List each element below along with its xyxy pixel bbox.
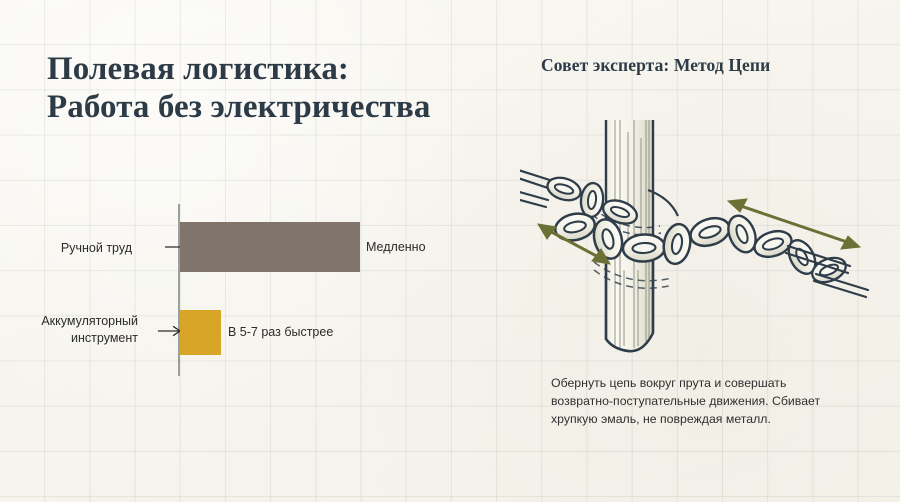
chart-category-label-manual-text: Ручной труд: [61, 241, 132, 255]
tip-caption: Обернуть цепь вокруг прута и совершать в…: [551, 374, 871, 429]
tip-title: Совет эксперта: Метод Цепи: [541, 55, 770, 76]
chain-wrapped-rod-illustration: [520, 120, 890, 370]
slide-canvas: Полевая логистика: Работа без электричес…: [0, 0, 900, 502]
bar-cordless-tool: [180, 310, 221, 355]
chart-category-label-cordless: Аккумуляторный инструмент: [12, 313, 138, 346]
tip-caption-line-2: возвратно-поступательные движения. Сбива…: [551, 392, 871, 410]
chain-links: [545, 174, 850, 287]
chart-category-label-manual: Ручной труд: [12, 240, 132, 257]
bar-value-label-manual: Медленно: [366, 240, 426, 254]
tip-caption-line-1: Обернуть цепь вокруг прута и совершать: [551, 374, 871, 392]
tip-caption-line-3: хрупкую эмаль, не повреждая металл.: [551, 410, 871, 428]
comparison-bar-chart: Ручной труд Медленно Аккумуляторный инст…: [0, 0, 470, 502]
bar-manual-labour: [180, 222, 360, 272]
chart-category-label-cordless-line-1: Аккумуляторный: [41, 314, 138, 328]
chart-category-label-cordless-line-2: инструмент: [71, 331, 138, 345]
bar-value-label-cordless: В 5-7 раз быстрее: [228, 325, 333, 339]
